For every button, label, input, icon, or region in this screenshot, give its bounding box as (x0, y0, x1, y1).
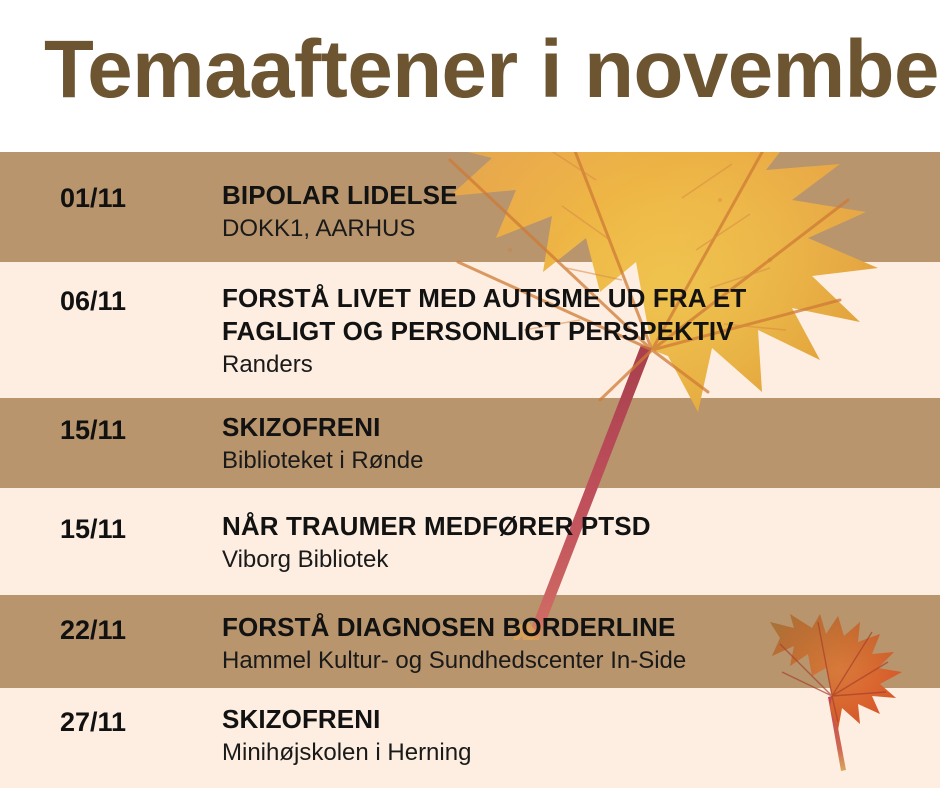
event-date: 06/11 (60, 286, 210, 317)
event-location: Randers (222, 350, 922, 380)
event-title: SKIZOFRENI (222, 703, 922, 736)
event-row: 15/11 NÅR TRAUMER MEDFØRER PTSD Viborg B… (0, 488, 940, 595)
event-title: BIPOLAR LIDELSE (222, 179, 922, 212)
event-row: 15/11 SKIZOFRENI Biblioteket i Rønde (0, 398, 940, 488)
event-location: Biblioteket i Rønde (222, 446, 922, 476)
event-date: 22/11 (60, 615, 210, 646)
event-text-block: FORSTÅ DIAGNOSEN BORDERLINE Hammel Kultu… (222, 611, 922, 676)
event-location: DOKK1, AARHUS (222, 214, 922, 244)
event-title: NÅR TRAUMER MEDFØRER PTSD (222, 510, 922, 543)
event-location: Viborg Bibliotek (222, 545, 922, 575)
event-title: FORSTÅ DIAGNOSEN BORDERLINE (222, 611, 922, 644)
event-text-block: SKIZOFRENI Biblioteket i Rønde (222, 411, 922, 476)
event-text-block: NÅR TRAUMER MEDFØRER PTSD Viborg Bibliot… (222, 510, 922, 575)
event-location: Hammel Kultur- og Sundhedscenter In-Side (222, 646, 922, 676)
event-title: FORSTÅ LIVET MED AUTISME UD FRA ET FAGLI… (222, 282, 922, 348)
event-row: 06/11 FORSTÅ LIVET MED AUTISME UD FRA ET… (0, 262, 940, 398)
event-row: 27/11 SKIZOFRENI Minihøjskolen i Herning (0, 688, 940, 788)
event-row: 01/11 BIPOLAR LIDELSE DOKK1, AARHUS (0, 152, 940, 262)
event-text-block: FORSTÅ LIVET MED AUTISME UD FRA ET FAGLI… (222, 282, 922, 380)
page-title: Temaaftener i november (44, 25, 900, 115)
event-date: 01/11 (60, 183, 210, 214)
poster-canvas: Temaaftener i november 01/11 BIPOLAR LID… (0, 0, 940, 788)
event-text-block: SKIZOFRENI Minihøjskolen i Herning (222, 703, 922, 768)
event-row: 22/11 FORSTÅ DIAGNOSEN BORDERLINE Hammel… (0, 595, 940, 688)
event-text-block: BIPOLAR LIDELSE DOKK1, AARHUS (222, 179, 922, 244)
event-date: 15/11 (60, 415, 210, 446)
event-location: Minihøjskolen i Herning (222, 738, 922, 768)
event-title: SKIZOFRENI (222, 411, 922, 444)
event-date: 15/11 (60, 514, 210, 545)
event-date: 27/11 (60, 707, 210, 738)
